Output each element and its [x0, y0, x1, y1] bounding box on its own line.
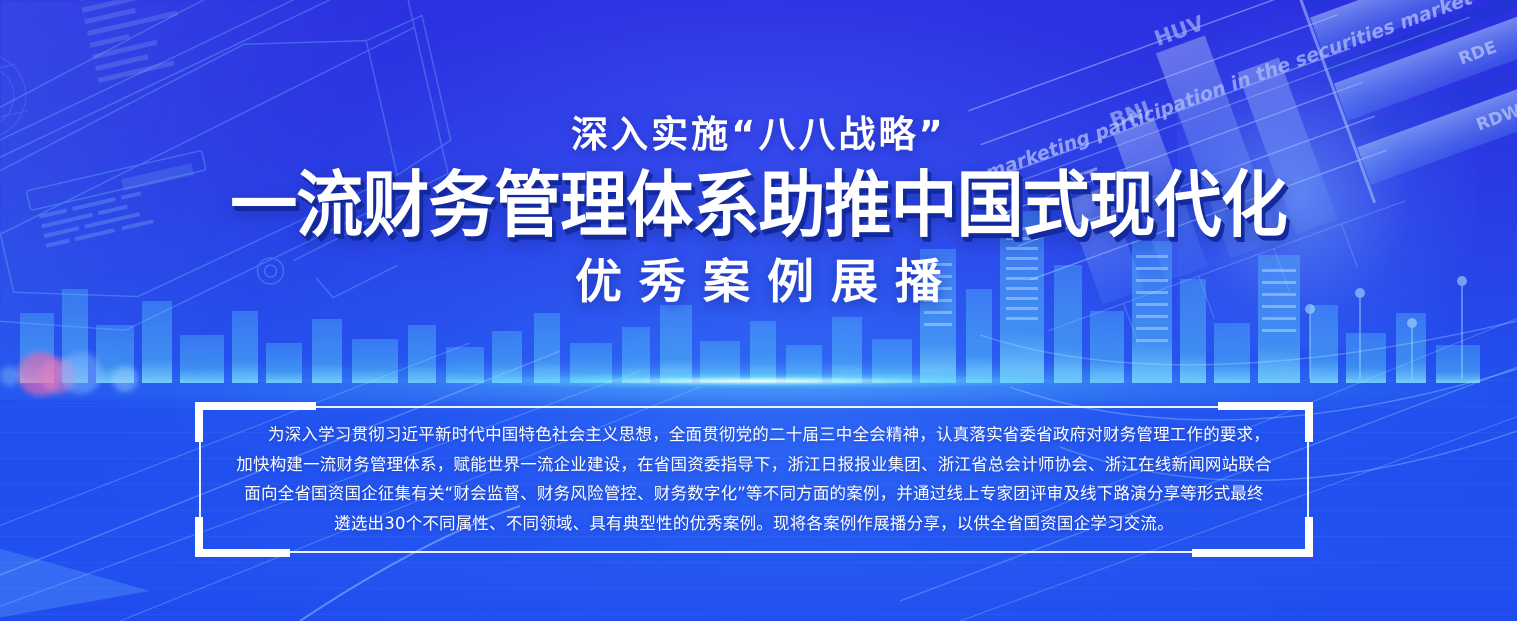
- promo-banner: Distr HRT TRG RDE RDW: [0, 0, 1517, 621]
- banner-tagline: 优秀案例展播: [0, 258, 1517, 307]
- description-line-2: 加快构建一流财务管理体系，赋能世界一流企业建设，在省国资委指导下，浙江日报报业集…: [223, 450, 1285, 480]
- frame-corner-bottom-left-h: [198, 549, 290, 557]
- bokeh-blue-2: [112, 366, 138, 392]
- banner-content: 深入实施“八八战略” 一流财务管理体系助推中国式现代化 优秀案例展播: [0, 0, 1517, 308]
- description-line-4: 遴选出30个不同属性、不同领域、具有典型性的优秀案例。现将各案例作展播分享，以供…: [223, 509, 1285, 539]
- bokeh-pink-2: [40, 358, 76, 394]
- frame-corner-top-left-h: [198, 402, 316, 410]
- frame-corner-top-right-h: [1218, 402, 1310, 410]
- description-text: 为深入学习贯彻习近平新时代中国特色社会主义思想，全面贯彻党的二十届三中全会精神，…: [199, 420, 1309, 538]
- frame-corner-bottom-right-h: [1192, 549, 1310, 557]
- description-box: 为深入学习贯彻习近平新时代中国特色社会主义思想，全面贯彻党的二十届三中全会精神，…: [199, 406, 1309, 553]
- description-line-3: 面向全省国资国企征集有关“财会监督、财务风险管控、财务数字化”等不同方面的案例，…: [223, 479, 1285, 509]
- banner-subtitle: 深入实施“八八战略”: [0, 116, 1517, 153]
- horizon-beam-core: [209, 368, 1309, 394]
- banner-main-title: 一流财务管理体系助推中国式现代化: [53, 169, 1464, 242]
- bokeh-pink: [18, 352, 62, 396]
- horizon-beam-wide: [0, 368, 1517, 402]
- bokeh-blue-3: [0, 366, 20, 386]
- bokeh-blue: [60, 352, 102, 394]
- description-line-1: 为深入学习贯彻习近平新时代中国特色社会主义思想，全面贯彻党的二十届三中全会精神，…: [223, 420, 1285, 450]
